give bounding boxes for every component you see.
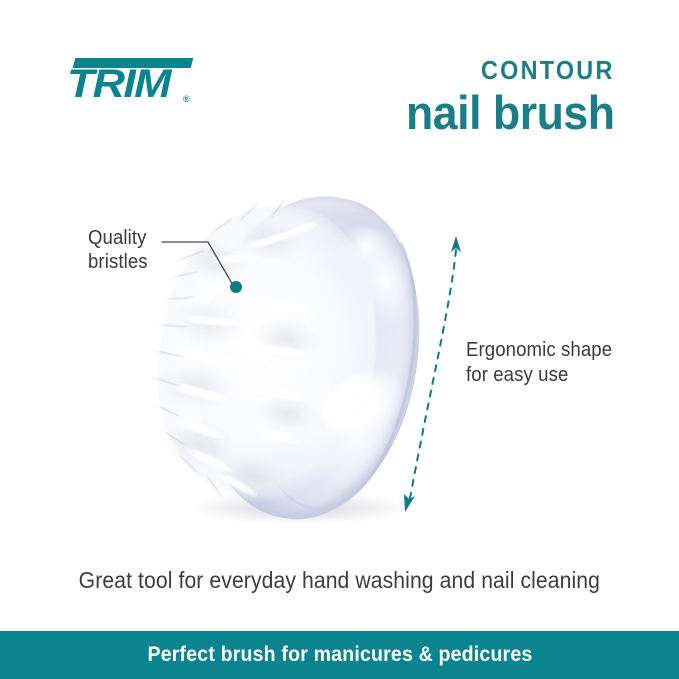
bristle-tip [269, 199, 285, 221]
callout-ergonomic-shape-label: Ergonomic shape for easy use [466, 338, 612, 388]
bottom-banner-text: Perfect brush for manicures & pedicures [147, 643, 532, 667]
header-product-name: nail brush [406, 87, 615, 139]
bristle-tip [153, 403, 181, 417]
bristle-tuft [255, 301, 311, 313]
header-eyebrow-text: CONTOUR [417, 55, 615, 85]
callout-quality-bristles-marker-dot [230, 281, 242, 293]
bottom-banner: Perfect brush for manicures & pedicures [0, 631, 679, 679]
header-title-block: CONTOUR nail brush [395, 55, 615, 139]
brand-logo-wordmark: TRIM [67, 64, 213, 104]
bottom-caption-text: Great tool for everyday hand washing and… [79, 566, 600, 594]
product-infographic: TRIM ® CONTOUR nail brush [0, 0, 679, 679]
bristle-shading [252, 315, 321, 364]
brand-logo: TRIM ® [67, 58, 197, 110]
registered-trademark-icon: ® [183, 94, 190, 104]
bottom-caption: Great tool for everyday hand washing and… [0, 566, 679, 594]
callout-quality-bristles-label: Quality bristles [88, 226, 148, 274]
bristle-tip [237, 203, 258, 223]
